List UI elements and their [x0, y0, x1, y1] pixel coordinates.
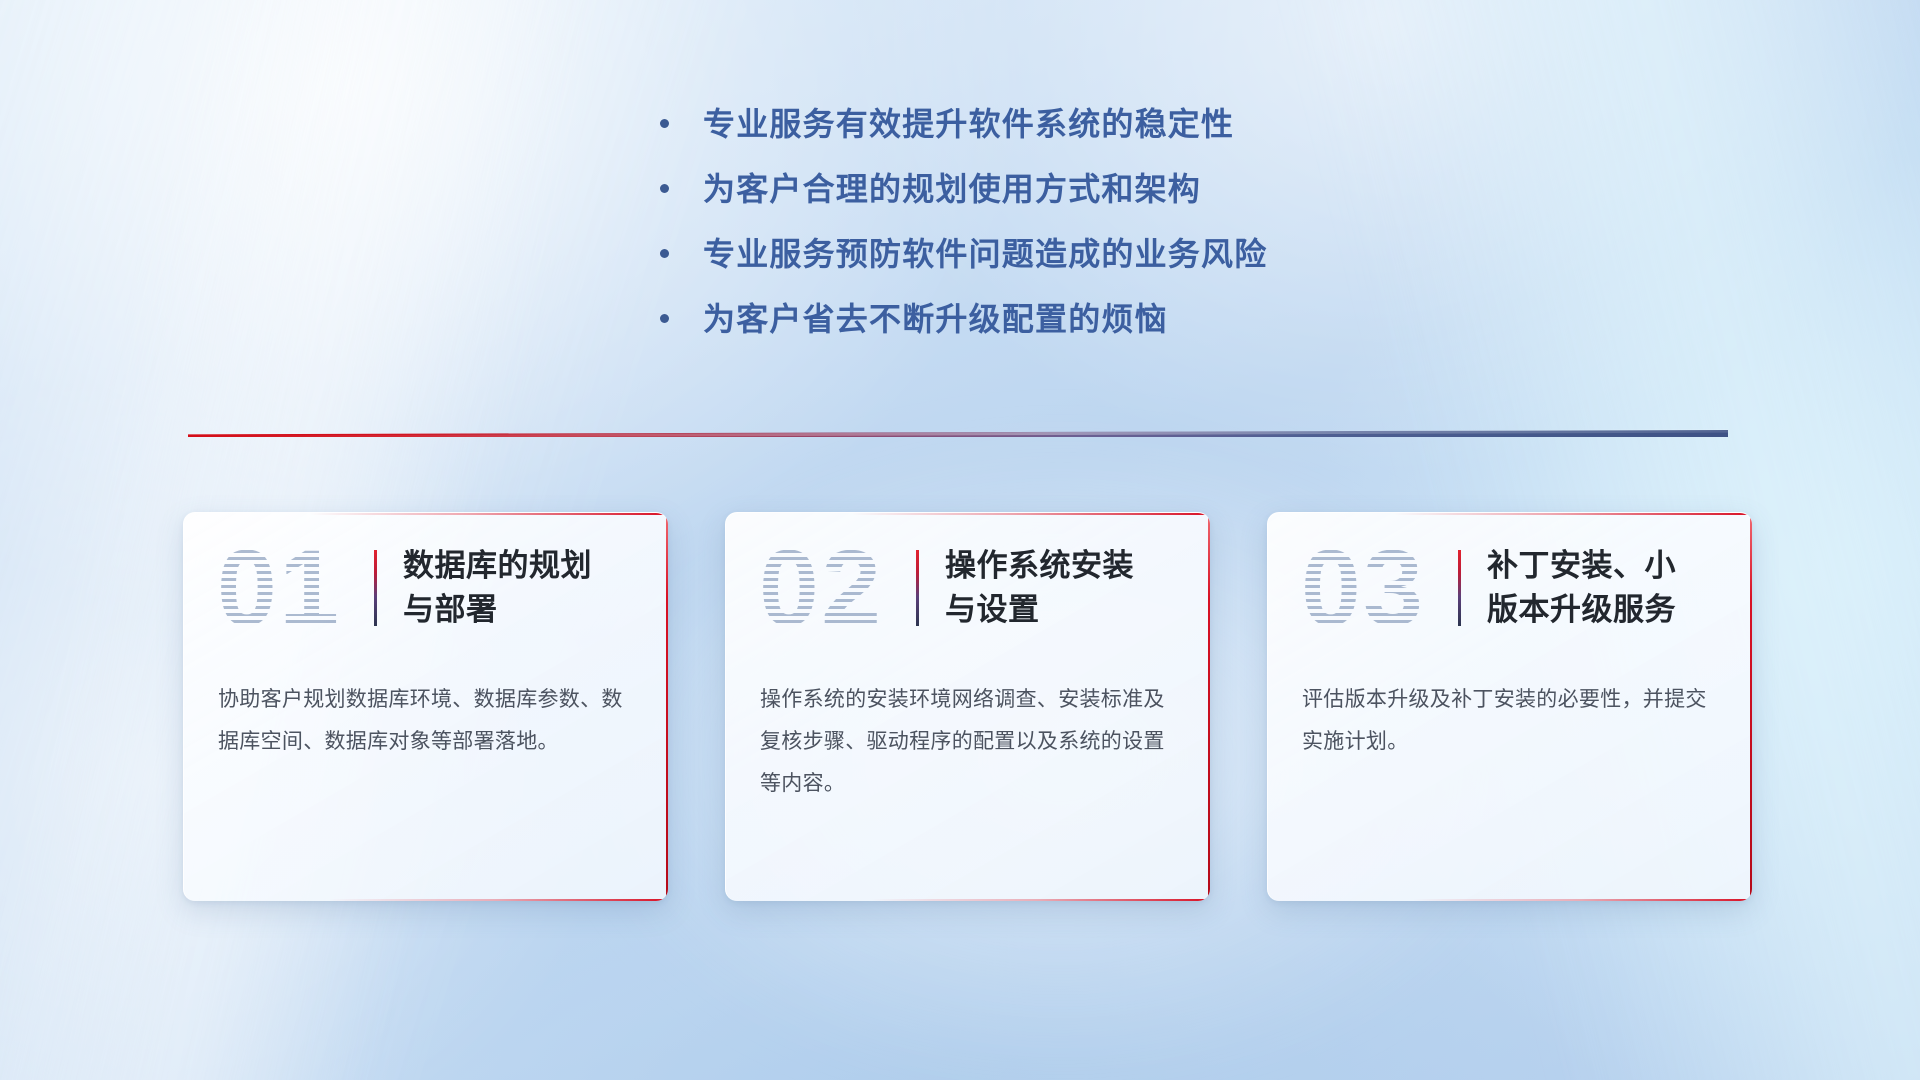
card-title-line2: 与部署 — [403, 588, 592, 632]
card-title: 数据库的规划 与部署 — [403, 544, 592, 632]
info-card-03[interactable]: 03 补丁安装、小 版本升级服务 评估版本升级及补丁安装的必要性，并提交实施计划… — [1267, 512, 1752, 901]
info-card-01[interactable]: 01 数据库的规划 与部署 协助客户规划数据库环境、数据库参数、数据库空间、数据… — [183, 512, 668, 901]
card-body-text: 操作系统的安装环境网络调查、安装标准及复核步骤、驱动程序的配置以及系统的设置等内… — [726, 663, 1210, 805]
card-title-line2: 与设置 — [945, 588, 1134, 632]
card-title-line2: 版本升级服务 — [1487, 588, 1676, 632]
card-body-text: 协助客户规划数据库环境、数据库参数、数据库空间、数据库对象等部署落地。 — [184, 663, 668, 763]
gradient-divider-line — [188, 428, 1728, 439]
bullet-dot-icon — [660, 119, 669, 128]
card-title: 操作系统安装 与设置 — [945, 544, 1134, 632]
card-number: 03 — [1288, 536, 1438, 640]
bullet-dot-icon — [660, 184, 669, 193]
card-bottom-accent — [1413, 899, 1752, 901]
bullet-text: 专业服务有效提升软件系统的稳定性 — [703, 108, 1234, 140]
list-item: 专业服务有效提升软件系统的稳定性 — [660, 108, 1400, 140]
list-item: 为客户合理的规划使用方式和架构 — [660, 173, 1400, 205]
card-bottom-accent — [871, 899, 1210, 901]
card-title-line1: 操作系统安装 — [945, 544, 1134, 588]
card-header: 01 数据库的规划 与部署 — [184, 513, 668, 663]
list-item: 专业服务预防软件问题造成的业务风险 — [660, 238, 1400, 270]
slide-root: 专业服务有效提升软件系统的稳定性 为客户合理的规划使用方式和架构 专业服务预防软… — [0, 0, 1920, 1080]
bullet-dot-icon — [660, 249, 669, 258]
card-title-line1: 数据库的规划 — [403, 544, 592, 588]
card-body-text: 评估版本升级及补丁安装的必要性，并提交实施计划。 — [1268, 663, 1752, 763]
card-header: 03 补丁安装、小 版本升级服务 — [1268, 513, 1752, 663]
card-group: 01 数据库的规划 与部署 协助客户规划数据库环境、数据库参数、数据库空间、数据… — [183, 512, 1752, 901]
card-divider-bar — [374, 550, 377, 626]
info-card-02[interactable]: 02 操作系统安装 与设置 操作系统的安装环境网络调查、安装标准及复核步骤、驱动… — [725, 512, 1210, 901]
card-header: 02 操作系统安装 与设置 — [726, 513, 1210, 663]
bullet-dot-icon — [660, 314, 669, 323]
card-number: 02 — [746, 536, 896, 640]
card-divider-bar — [916, 550, 919, 626]
card-bottom-accent — [329, 899, 668, 901]
bullet-list: 专业服务有效提升软件系统的稳定性 为客户合理的规划使用方式和架构 专业服务预防软… — [660, 108, 1400, 368]
bullet-text: 为客户合理的规划使用方式和架构 — [703, 173, 1201, 205]
card-number: 01 — [204, 536, 354, 640]
card-title-line1: 补丁安装、小 — [1487, 544, 1676, 588]
bullet-text: 专业服务预防软件问题造成的业务风险 — [703, 238, 1267, 270]
card-title: 补丁安装、小 版本升级服务 — [1487, 544, 1676, 632]
bullet-text: 为客户省去不断升级配置的烦恼 — [703, 303, 1168, 335]
card-divider-bar — [1458, 550, 1461, 626]
list-item: 为客户省去不断升级配置的烦恼 — [660, 303, 1400, 335]
